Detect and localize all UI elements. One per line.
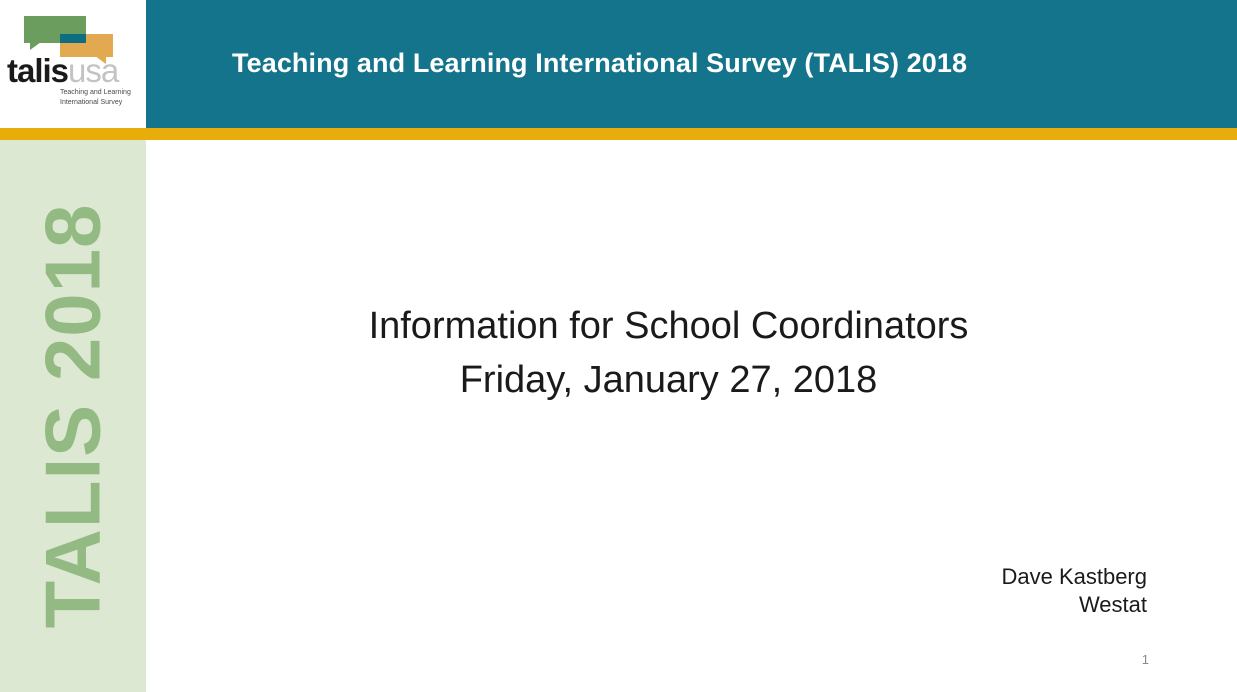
logo-wordmark-secondary: usa: [68, 52, 118, 89]
page-title-line2: Friday, January 27, 2018: [146, 354, 1191, 408]
presentation-slide: Teaching and Learning International Surv…: [0, 0, 1237, 692]
presenter-credit: Dave Kastberg Westat: [1001, 563, 1147, 619]
logo-tagline-line2: International Survey: [60, 98, 131, 108]
slide-content: Information for School Coordinators Frid…: [146, 140, 1237, 692]
talis-usa-logo: talisusa Teaching and Learning Internati…: [0, 0, 146, 128]
sidebar-vertical-label: TALIS 2018: [28, 204, 119, 629]
logo-tagline-line1: Teaching and Learning: [60, 88, 131, 98]
page-title: Information for School Coordinators Frid…: [146, 300, 1191, 408]
header-band: Teaching and Learning International Surv…: [146, 0, 1237, 128]
teal-overlap-icon: [60, 34, 86, 43]
header-title: Teaching and Learning International Surv…: [232, 48, 967, 79]
slide-number: 1: [1142, 652, 1149, 667]
logo-wordmark: talisusa: [7, 54, 118, 87]
page-title-line1: Information for School Coordinators: [146, 300, 1191, 354]
presenter-organization: Westat: [1001, 591, 1147, 619]
gold-accent-bar: [0, 128, 1237, 140]
logo-tagline: Teaching and Learning International Surv…: [60, 88, 131, 108]
logo-wordmark-primary: talis: [7, 52, 68, 89]
presenter-name: Dave Kastberg: [1001, 563, 1147, 591]
sidebar: TALIS 2018: [0, 140, 146, 692]
